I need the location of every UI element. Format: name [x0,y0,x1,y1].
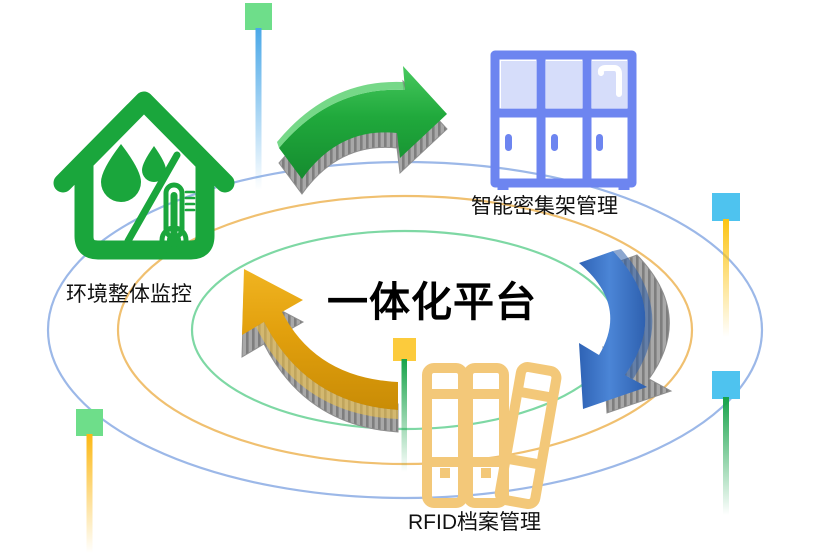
arrow-green-top [277,66,447,194]
arrow-blue-right [579,249,671,413]
page-title: 一体化平台 [327,268,537,328]
node-label-cabinet: 智能密集架管理 [471,196,618,217]
node-label-environment: 环境整体监控 [66,284,192,305]
diagram-canvas: 一体化平台 环境整体监控 智能密集架管理 RFID档案管理 [0,0,825,553]
node-label-rfid: RFID档案管理 [408,512,541,533]
